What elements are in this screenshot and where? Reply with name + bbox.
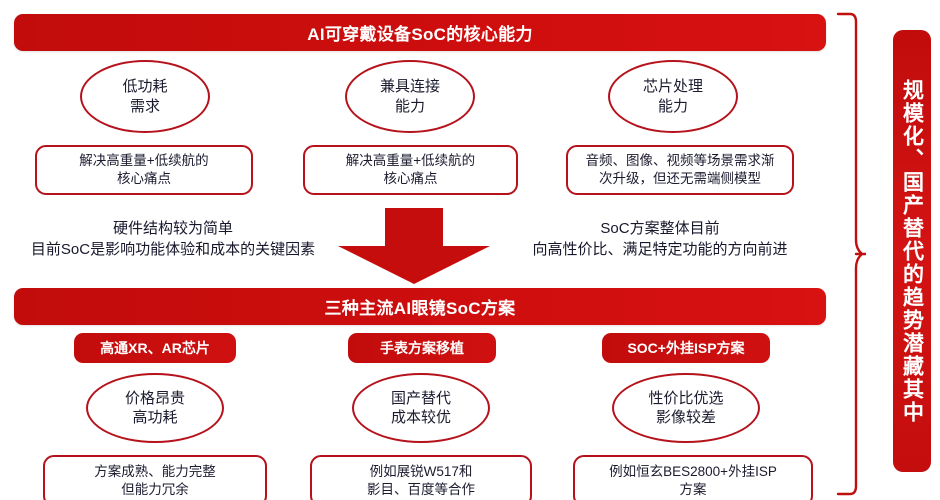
bottom-section-header-label: 三种主流AI眼镜SoC方案 [325, 294, 516, 319]
top-box-1-line-1: 解决高重量+低续航的 [79, 152, 208, 170]
bottom-pill-1[interactable]: 高通XR、AR芯片 [74, 333, 236, 363]
top-ellipse-1-line-1: 低功耗 [122, 77, 167, 96]
top-box-1: 解决高重量+低续航的 核心痛点 [35, 145, 253, 195]
bottom-ellipse-2-line-1: 国产替代 [391, 389, 451, 408]
caption-right: SoC方案整体目前 向高性价比、满足特定功能的方向前进 [495, 218, 825, 260]
bottom-box-3: 例如恒玄BES2800+外挂ISP 方案 [573, 455, 813, 500]
bottom-ellipse-3: 性价比优选 影像较差 [612, 373, 760, 443]
bottom-box-3-line-2: 方案 [680, 481, 707, 499]
bottom-pill-3[interactable]: SOC+外挂ISP方案 [602, 333, 770, 363]
bottom-ellipse-2-line-2: 成本较优 [391, 408, 451, 427]
top-ellipse-3-line-2: 能力 [658, 97, 688, 116]
right-curly-bracket-icon [834, 8, 866, 500]
top-ellipse-1: 低功耗 需求 [80, 60, 210, 133]
caption-left: 硬件结构较为简单 目前SoC是影响功能体验和成本的关键因素 [8, 218, 338, 260]
bottom-box-3-line-1: 例如恒玄BES2800+外挂ISP [609, 463, 777, 481]
top-ellipse-3: 芯片处理 能力 [608, 60, 738, 133]
caption-left-line-1: 硬件结构较为简单 [8, 218, 338, 239]
top-ellipse-2: 兼具连接 能力 [345, 60, 475, 133]
bottom-pill-1-label: 高通XR、AR芯片 [100, 338, 210, 358]
bottom-pill-2[interactable]: 手表方案移植 [348, 333, 496, 363]
top-ellipse-3-line-1: 芯片处理 [643, 77, 703, 96]
top-box-2-line-2: 核心痛点 [384, 170, 438, 188]
bottom-box-1-line-2: 但能力冗余 [121, 481, 189, 499]
top-box-3-line-1: 音频、图像、视频等场景需求渐 [586, 152, 775, 170]
top-ellipse-2-line-1: 兼具连接 [380, 77, 440, 96]
caption-right-line-1: SoC方案整体目前 [495, 218, 825, 239]
caption-right-line-2: 向高性价比、满足特定功能的方向前进 [495, 239, 825, 260]
top-box-3-line-2: 次升级，但还无需端侧模型 [599, 170, 761, 188]
side-banner: 规模化、国产替代的趋势潜藏其中 [893, 30, 931, 472]
bottom-ellipse-3-line-1: 性价比优选 [648, 389, 723, 408]
top-section-header-label: AI可穿戴设备SoC的核心能力 [307, 20, 533, 45]
side-banner-label: 规模化、国产替代的趋势潜藏其中 [902, 79, 923, 424]
caption-left-line-2: 目前SoC是影响功能体验和成本的关键因素 [8, 239, 338, 260]
down-arrow-icon [338, 208, 490, 284]
bottom-ellipse-1-line-2: 高功耗 [132, 408, 177, 427]
top-section-header: AI可穿戴设备SoC的核心能力 [14, 14, 826, 51]
bottom-pill-3-label: SOC+外挂ISP方案 [627, 338, 744, 358]
bottom-ellipse-1-line-1: 价格昂贵 [125, 389, 185, 408]
top-box-2-line-1: 解决高重量+低续航的 [346, 152, 475, 170]
bottom-ellipse-1: 价格昂贵 高功耗 [86, 373, 224, 443]
top-ellipse-2-line-2: 能力 [395, 97, 425, 116]
bottom-ellipse-3-line-2: 影像较差 [656, 408, 716, 427]
bottom-ellipse-2: 国产替代 成本较优 [352, 373, 490, 443]
bottom-section-header: 三种主流AI眼镜SoC方案 [14, 288, 826, 325]
bottom-box-2-line-1: 例如展锐W517和 [370, 463, 473, 481]
infographic-canvas: AI可穿戴设备SoC的核心能力 低功耗 需求 兼具连接 能力 芯片处理 能力 解… [0, 0, 940, 500]
bottom-box-1: 方案成熟、能力完整 但能力冗余 [43, 455, 267, 500]
top-box-1-line-2: 核心痛点 [117, 170, 171, 188]
top-ellipse-1-line-2: 需求 [130, 97, 160, 116]
bottom-box-1-line-1: 方案成熟、能力完整 [94, 463, 216, 481]
top-box-2: 解决高重量+低续航的 核心痛点 [303, 145, 518, 195]
top-box-3: 音频、图像、视频等场景需求渐 次升级，但还无需端侧模型 [566, 145, 794, 195]
bottom-box-2-line-2: 影目、百度等合作 [367, 481, 475, 499]
bottom-box-2: 例如展锐W517和 影目、百度等合作 [310, 455, 532, 500]
bottom-pill-2-label: 手表方案移植 [380, 338, 464, 358]
